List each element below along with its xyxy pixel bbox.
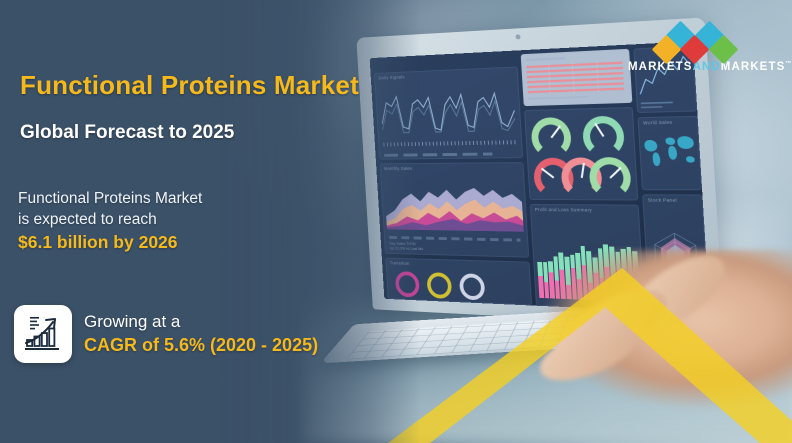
cagr-block: Growing at a CAGR of 5.6% (2020 - 2025) bbox=[14, 305, 318, 363]
cagr-line-1: Growing at a bbox=[84, 310, 318, 333]
logo-text-part1: MARKETS bbox=[628, 61, 693, 73]
dashboard-tile-data-grid bbox=[521, 49, 633, 106]
gauge-needle bbox=[541, 168, 554, 178]
body-line-1: Functional Proteins Market bbox=[18, 188, 202, 209]
body-line-2: is expected to reach bbox=[18, 209, 202, 230]
logo-text: MARKETSANDMARKETS™ bbox=[628, 61, 778, 73]
webcam-icon bbox=[515, 34, 520, 39]
gauge-chart bbox=[530, 117, 572, 158]
map-region bbox=[668, 146, 677, 160]
hand-photo bbox=[502, 250, 792, 443]
tile-label: Stock Panel bbox=[648, 197, 678, 202]
growth-chart-glyph bbox=[22, 314, 64, 354]
cagr-text: Growing at a CAGR of 5.6% (2020 - 2025) bbox=[84, 310, 318, 359]
map-region bbox=[644, 140, 657, 152]
gauge-needle bbox=[581, 163, 585, 178]
world-map bbox=[641, 122, 698, 184]
gauge-chart bbox=[582, 116, 625, 158]
gauge-needle bbox=[594, 123, 604, 137]
logo-text-and: AND bbox=[693, 61, 721, 73]
marketing-banner: Daily Signals Monthly Sales Key S bbox=[0, 0, 792, 443]
tile-label: Profit and Loss Summary bbox=[535, 207, 592, 213]
text-content: Functional Proteins Market Global Foreca… bbox=[0, 0, 470, 443]
map-region bbox=[677, 136, 694, 149]
table-rows-svg bbox=[521, 49, 633, 106]
logo-text-part2: MARKETS bbox=[721, 61, 786, 73]
gauge-needle bbox=[609, 167, 621, 179]
page-title: Functional Proteins Market bbox=[20, 70, 359, 101]
map-region bbox=[665, 137, 675, 145]
body-text: Functional Proteins Market is expected t… bbox=[18, 188, 202, 255]
dashboard-tile-gauges bbox=[524, 107, 638, 201]
trademark-symbol: ™ bbox=[785, 61, 792, 67]
marketsandmarkets-logo[interactable]: MARKETSANDMARKETS™ bbox=[628, 24, 778, 73]
page-subtitle: Global Forecast to 2025 bbox=[20, 122, 234, 144]
gauge-needle bbox=[551, 125, 561, 138]
bar-chart-growth-icon bbox=[14, 305, 72, 363]
gauge-group bbox=[528, 115, 634, 196]
map-region bbox=[652, 152, 660, 166]
logo-diamonds bbox=[628, 24, 778, 60]
dashboard-tile-world-map: World Sales bbox=[637, 116, 702, 190]
map-region bbox=[686, 156, 695, 162]
cagr-line-2: CAGR of 5.6% (2020 - 2025) bbox=[84, 333, 318, 357]
body-highlight: $6.1 billion by 2026 bbox=[18, 230, 202, 255]
